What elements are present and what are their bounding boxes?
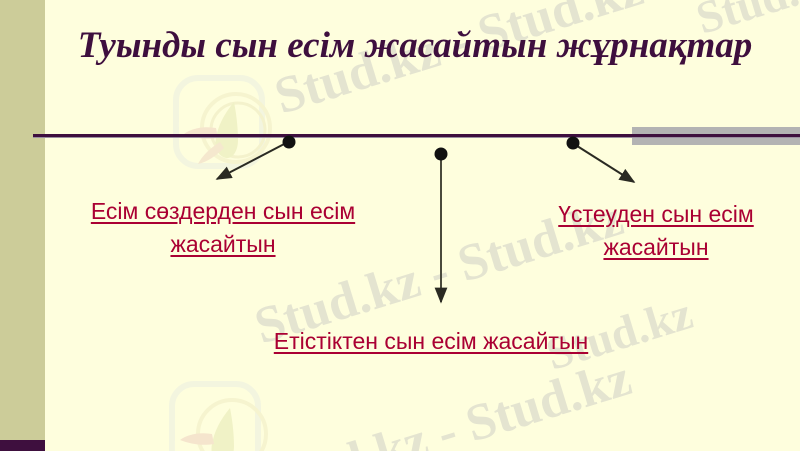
connector-to-left: [217, 136, 296, 180]
diagram-node-left: Есім сөздерден сын есім жасайтын: [58, 195, 388, 260]
connector-to-bottom: [435, 148, 448, 303]
diagram-node-bottom: Етістіктен сын есім жасайтын: [262, 325, 600, 358]
connector-to-right: [567, 137, 635, 183]
page-title: Туынды сын есім жасайтын жұрнақтар: [45, 22, 785, 71]
slide-canvas: Stud.kz - Stud.kz Stud.kz - Stud.kz Stud…: [0, 0, 800, 451]
diagram-node-right: Үстеуден сын есім жасайтын: [522, 198, 790, 263]
